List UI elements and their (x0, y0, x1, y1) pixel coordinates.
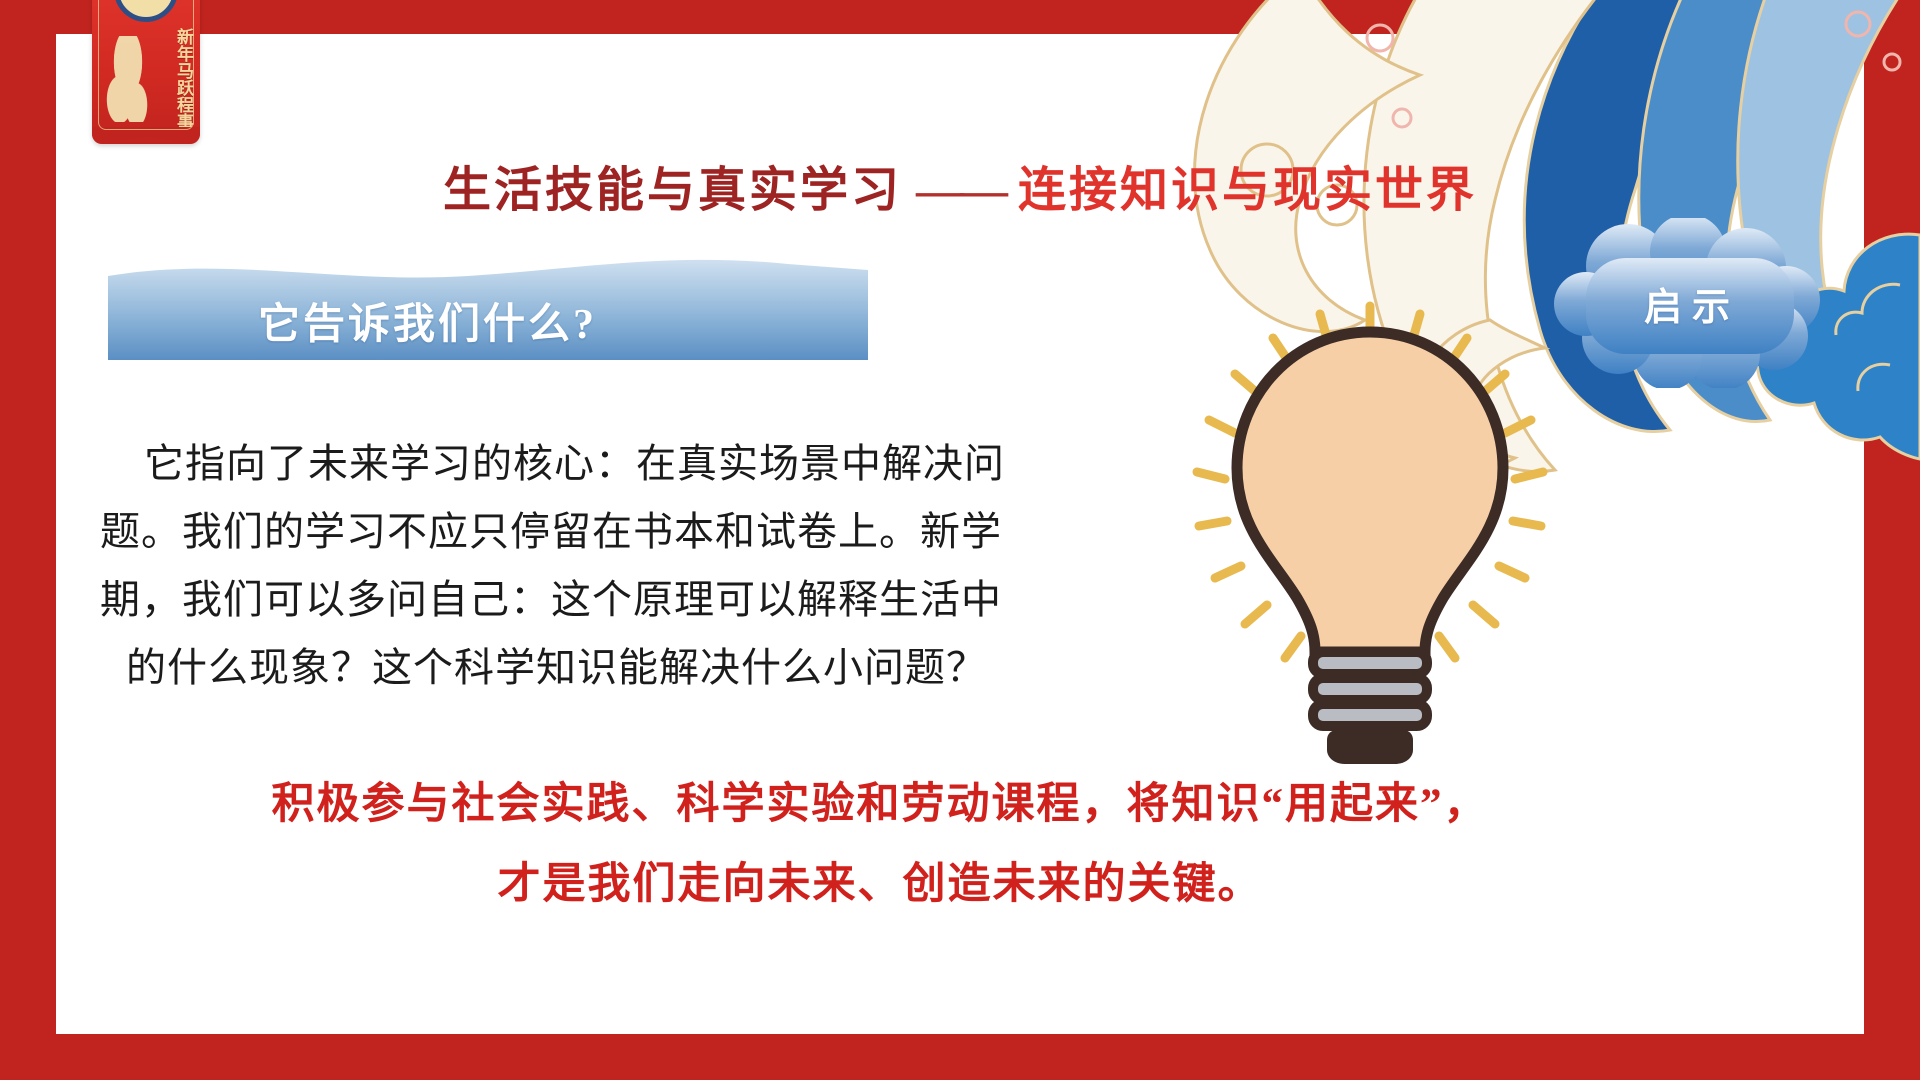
conclusion-line-2: 才是我们走向未来、创造未来的关键。 (120, 845, 1640, 925)
page-title: 生活技能与真实学习 —— 连接知识与现实世界 (0, 150, 1920, 220)
horse-icon (102, 36, 154, 122)
body-line-1: 它指向了未来学习的核心：在真实场景中解决问 (100, 430, 1210, 498)
banner-label: 它告诉我们什么? (258, 290, 597, 351)
title-part-1: 生活技能与真实学习 (443, 164, 902, 217)
new-year-bookmark-tag: 新年马跃程事 (92, 0, 200, 144)
lightbulb-svg (1185, 300, 1555, 770)
cloud-bubble-label: 启示 (1528, 218, 1848, 388)
body-line-3: 期，我们可以多问自己：这个原理可以解释生活中 (100, 566, 1210, 634)
puzzle-lightbulb-illustration (1185, 300, 1555, 770)
insight-cloud-bubble: 启示 (1528, 218, 1848, 388)
slide-canvas: 新年马跃程事 生活技能与真实学习 —— 连接知识与现实世界 它告诉我们什么? (0, 0, 1920, 1080)
title-part-2: 连接知识与现实世界 (1018, 164, 1477, 217)
section-banner: 它告诉我们什么? (108, 250, 868, 360)
body-line-4: 的什么现象？这个科学知识能解决什么小问题？ (100, 634, 1210, 702)
body-line-2: 题。我们的学习不应只停留在书本和试卷上。新学 (100, 498, 1210, 566)
bulb-base-icon (1313, 652, 1427, 764)
coin-ornament (114, 0, 178, 22)
bookmark-label: 新年马跃程事 (137, 26, 193, 130)
conclusion-line-1: 积极参与社会实践、科学实验和劳动课程，将知识“用起来”， (120, 765, 1640, 845)
title-dash: —— (902, 164, 1018, 217)
body-paragraph: 它指向了未来学习的核心：在真实场景中解决问 题。我们的学习不应只停留在书本和试卷… (100, 430, 1210, 702)
conclusion-text: 积极参与社会实践、科学实验和劳动课程，将知识“用起来”， 才是我们走向未来、创造… (120, 765, 1640, 925)
bookmark-tail (92, 127, 200, 144)
